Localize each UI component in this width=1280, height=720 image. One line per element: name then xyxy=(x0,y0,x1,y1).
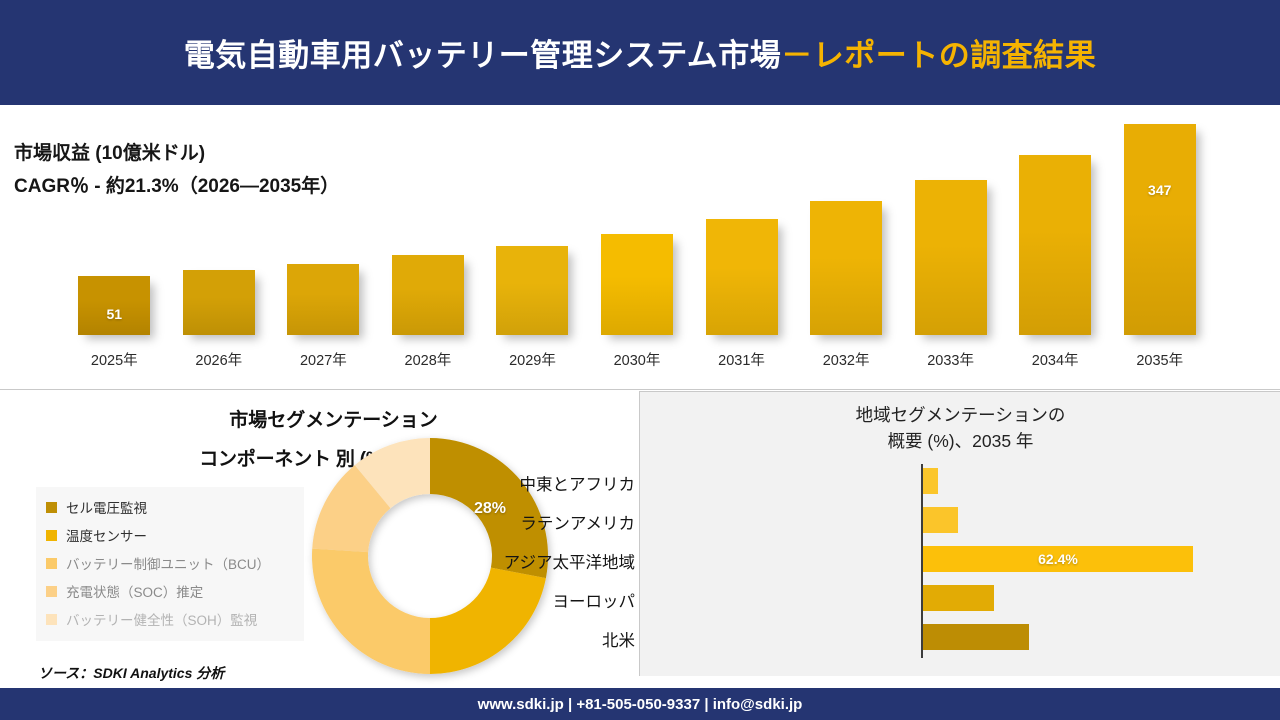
legend-swatch xyxy=(46,614,57,625)
region-label: ヨーロッパ xyxy=(375,588,635,612)
region-bar xyxy=(923,624,1029,650)
region-title-line2: 概要 (%)、2035 年 xyxy=(640,428,1280,454)
page-title: 電気自動車用バッテリー管理システム市場－レポートの調査結果 xyxy=(184,30,1097,75)
legend-swatch xyxy=(46,558,57,569)
donut-slice-label: 28% xyxy=(474,500,506,518)
market-revenue-chart-panel: 市場収益 (10億米ドル) CAGR％ - 約21.3%（2026―2035年）… xyxy=(0,105,1280,390)
region-bar xyxy=(923,468,938,494)
legend-item: 充電状態（SOC）推定 xyxy=(46,577,296,605)
legend-item: バッテリー制御ユニット（BCU） xyxy=(46,549,296,577)
footer-contact: www.sdki.jp | +81-505-050-9337 | info@sd… xyxy=(478,696,803,713)
source-note: ソース：SDKI Analytics 分析 xyxy=(38,663,224,683)
region-bar xyxy=(923,585,994,611)
bar-column xyxy=(601,234,673,335)
footer-bar: www.sdki.jp | +81-505-050-9337 | info@sd… xyxy=(0,688,1280,720)
bar-rect xyxy=(810,201,882,335)
bar-rect xyxy=(496,246,568,335)
legend-item: バッテリー健全性（SOH）監視 xyxy=(46,605,296,633)
bar-rect xyxy=(915,180,987,335)
legend-swatch xyxy=(46,586,57,597)
region-bar-value-label: 62.4% xyxy=(923,546,1193,572)
bar-column xyxy=(1019,155,1091,335)
bar-rect xyxy=(706,219,778,335)
header-banner: 電気自動車用バッテリー管理システム市場－レポートの調査結果 xyxy=(0,0,1280,105)
bar-column xyxy=(706,219,778,335)
page-title-accent: －レポートの調査結果 xyxy=(781,38,1096,73)
legend-label: 温度センサー xyxy=(66,525,147,545)
bar-column xyxy=(392,255,464,335)
bar-column xyxy=(496,246,568,335)
region-label: アジア太平洋地域 xyxy=(375,549,635,573)
legend-swatch xyxy=(46,530,57,541)
bar-rect: 347 xyxy=(1124,124,1196,335)
bar-value-label: 347 xyxy=(1124,182,1196,198)
legend-item: 温度センサー xyxy=(46,521,296,549)
donut-title-line1: 市場セグメンテーション xyxy=(30,405,637,432)
legend-label: セル電圧監視 xyxy=(66,497,147,517)
legend-label: バッテリー制御ユニット（BCU） xyxy=(66,553,270,573)
legend-label: バッテリー健全性（SOH）監視 xyxy=(66,609,257,629)
bar-column xyxy=(183,270,255,335)
bar-rect xyxy=(183,270,255,335)
bar-column xyxy=(810,201,882,335)
region-bar: 62.4% xyxy=(923,546,1193,572)
region-bar xyxy=(923,507,958,533)
region-chart-title: 地域セグメンテーションの 概要 (%)、2035 年 xyxy=(640,402,1280,455)
bar-rect xyxy=(1019,155,1091,335)
bar-column: 51 xyxy=(78,276,150,335)
donut-legend: セル電圧監視温度センサーバッテリー制御ユニット（BCU）充電状態（SOC）推定バ… xyxy=(36,487,304,641)
bar-column xyxy=(287,264,359,335)
donut-slice xyxy=(430,568,546,674)
page-title-main: 電気自動車用バッテリー管理システム市場 xyxy=(184,38,782,73)
regional-segmentation-panel: 地域セグメンテーションの 概要 (%)、2035 年 中東とアフリカラテンアメリ… xyxy=(639,391,1280,676)
region-label: 中東とアフリカ xyxy=(375,471,635,495)
bar-rect xyxy=(287,264,359,335)
region-title-line1: 地域セグメンテーションの xyxy=(640,402,1280,428)
legend-label: 充電状態（SOC）推定 xyxy=(66,581,203,601)
bar-column: 347 xyxy=(1124,124,1196,335)
bar-rect xyxy=(601,234,673,335)
region-label: 北米 xyxy=(375,627,635,651)
bar-value-label: 51 xyxy=(78,306,150,322)
bar-rect: 51 xyxy=(78,276,150,335)
legend-swatch xyxy=(46,502,57,513)
bar-x-label: 2035年 xyxy=(1090,349,1230,370)
market-revenue-bars: 512025年2026年2027年2028年2029年2030年2031年203… xyxy=(0,105,1280,390)
legend-item: セル電圧監視 xyxy=(46,493,296,521)
bar-rect xyxy=(392,255,464,335)
bar-column xyxy=(915,180,987,335)
